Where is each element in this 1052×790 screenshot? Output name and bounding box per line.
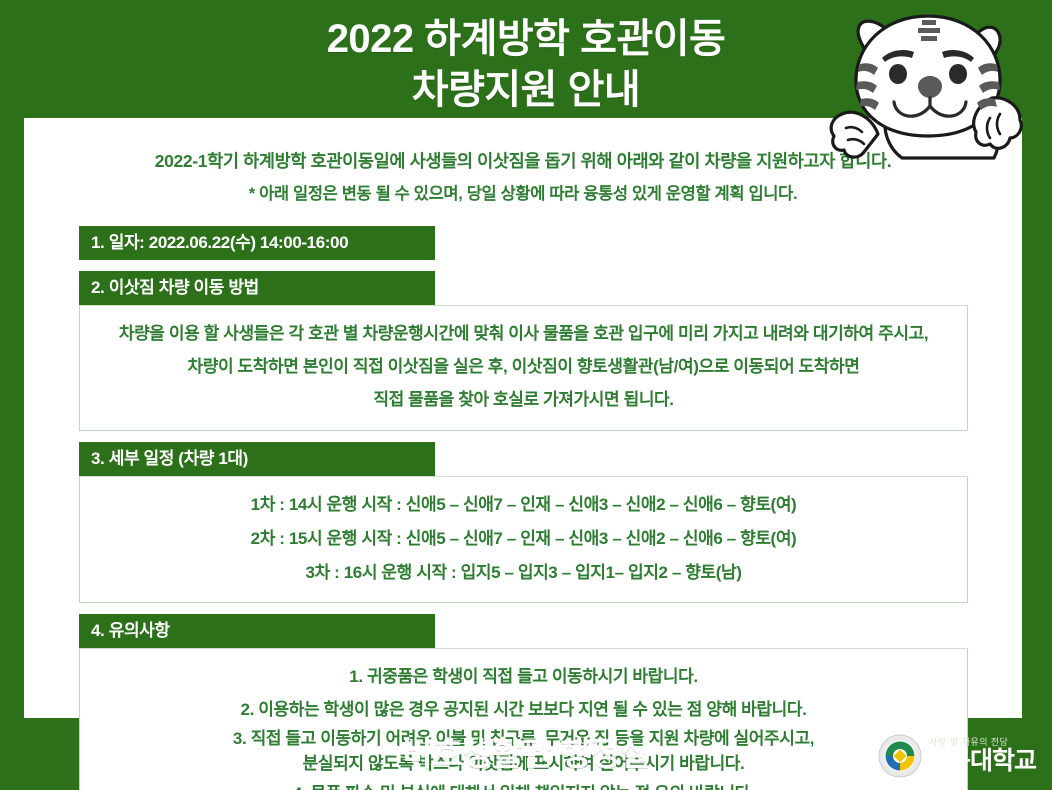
section-1-heading: 1. 일자: 2022.06.22(수) 14:00-16:00: [79, 226, 435, 260]
university-name: 대구대학교: [926, 749, 1036, 774]
content-card: 2022-1학기 하계방학 호관이동일에 사생들의 이삿짐을 돕기 위해 아래와…: [24, 118, 1022, 718]
section-4-heading: 4. 유의사항: [79, 614, 435, 648]
section-2-heading: 2. 이삿짐 차량 이동 방법: [79, 271, 435, 305]
schedule-run-2: 2차 : 15시 운행 시작 : 신애5 – 신애7 – 인재 – 신애3 – …: [96, 522, 951, 556]
schedule-run-3: 3차 : 16시 운행 시작 : 입지5 – 입지3 – 입지1– 입지2 – …: [96, 556, 951, 590]
intro-line-1: 2022-1학기 하계방학 호관이동일에 사생들의 이삿짐을 돕기 위해 아래와…: [24, 144, 1022, 178]
section-3-heading: 3. 세부 일정 (차량 1대): [79, 442, 435, 476]
university-emblem-icon: [878, 734, 922, 778]
section-2-body: 차량을 이용 할 사생들은 각 호관 별 차량운행시간에 맞춰 이사 물품을 호…: [79, 305, 968, 430]
section-2-line-2: 차량이 도착하면 본인이 직접 이삿짐을 실은 후, 이삿짐이 향토생활관(남/…: [96, 351, 951, 384]
poster-root: 2022 하계방학 호관이동 차량지원 안내: [0, 0, 1052, 790]
section-2-line-1: 차량을 이용 할 사생들은 각 호관 별 차량운행시간에 맞춰 이사 물품을 호…: [96, 318, 951, 351]
title-line-1: 2022 하계방학 호관이동: [0, 14, 1052, 65]
section-3-body: 1차 : 14시 운행 시작 : 신애5 – 신애7 – 인재 – 신애3 – …: [79, 476, 968, 603]
intro-line-2: * 아래 일정은 변동 될 수 있으며, 당일 상황에 따라 융통성 있게 운영…: [24, 178, 1022, 210]
university-logo-text: 사랑·빛·자유의 전당 대구대학교: [926, 738, 1036, 774]
university-logo: 사랑·빛·자유의 전당 대구대학교: [878, 730, 1046, 782]
university-slogan: 사랑·빛·자유의 전당: [929, 738, 1036, 747]
section-2-line-3: 직접 물품을 찾아 호실로 가져가시면 됩니다.: [96, 384, 951, 417]
section-2-method: 2. 이삿짐 차량 이동 방법 차량을 이용 할 사생들은 각 호관 별 차량운…: [24, 271, 1022, 430]
schedule-run-1: 1차 : 14시 운행 시작 : 신애5 – 신애7 – 인재 – 신애3 – …: [96, 488, 951, 522]
section-3-schedule: 3. 세부 일정 (차량 1대) 1차 : 14시 운행 시작 : 신애5 – …: [24, 442, 1022, 603]
intro-block: 2022-1학기 하계방학 호관이동일에 사생들의 이삿짐을 돕기 위해 아래와…: [24, 118, 1022, 210]
poster-title: 2022 하계방학 호관이동 차량지원 안내: [0, 14, 1052, 116]
section-1-date: 1. 일자: 2022.06.22(수) 14:00-16:00: [24, 226, 1022, 260]
notice-item-1: 1. 귀중품은 학생이 직접 들고 이동하시기 바랍니다.: [96, 660, 951, 693]
title-line-2: 차량지원 안내: [0, 65, 1052, 116]
